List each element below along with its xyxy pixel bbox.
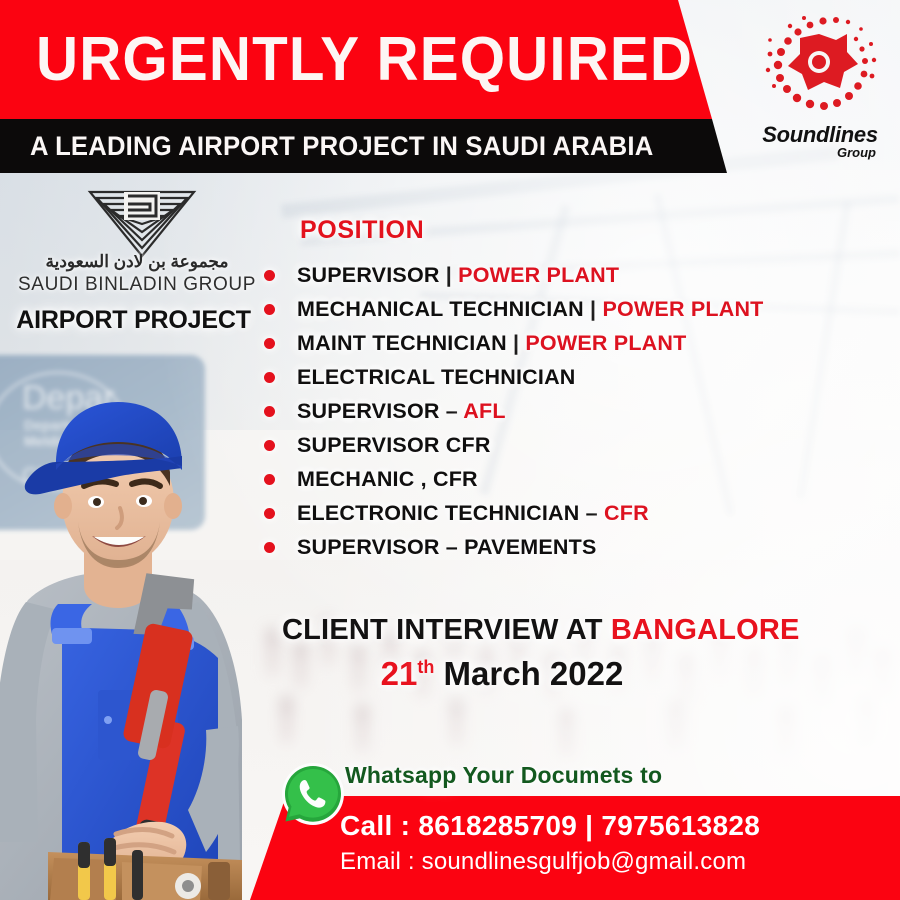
bullet-icon — [264, 372, 275, 383]
position-highlight: POWER PLANT — [525, 331, 686, 355]
contact-email-line: Email : soundlinesgulfjob@gmail.com — [340, 848, 900, 876]
binladin-diamond-icon — [72, 186, 212, 261]
interview-location-line: CLIENT INTERVIEW AT BANGALORE — [282, 614, 882, 647]
position-list-item: SUPERVISOR | POWER PLANT — [264, 258, 884, 292]
bullet-icon — [264, 440, 275, 451]
whatsapp-icon[interactable] — [281, 762, 345, 826]
position-label: SUPERVISOR | POWER PLANT — [297, 263, 619, 288]
bullet-icon — [264, 474, 275, 485]
interview-day-suffix: th — [417, 657, 434, 677]
bullet-icon — [264, 542, 275, 553]
bullet-icon — [264, 270, 275, 281]
position-title: ELECTRONIC TECHNICIAN – — [297, 501, 604, 525]
position-title: MAINT TECHNICIAN | — [297, 331, 525, 355]
position-list-item: ELECTRONIC TECHNICIAN – CFR — [264, 496, 884, 530]
soundlines-spiral-logo — [744, 14, 894, 120]
position-highlight: AFL — [463, 399, 505, 423]
client-name-arabic: مجموعة بن لادن السعودية — [12, 252, 262, 272]
interview-city: BANGALORE — [611, 614, 800, 646]
position-title: SUPERVISOR – — [297, 399, 463, 423]
email-label: Email : — [340, 848, 422, 875]
position-label: MECHANICAL TECHNICIAN | POWER PLANT — [297, 297, 764, 322]
position-title: MECHANICAL TECHNICIAN | — [297, 297, 602, 321]
position-label: SUPERVISOR – PAVEMENTS — [297, 535, 597, 560]
interview-day: 21 — [381, 655, 418, 692]
soundlines-logo: Soundlines Group — [744, 14, 894, 174]
position-title: SUPERVISOR CFR — [297, 433, 491, 457]
position-title: SUPERVISOR – PAVEMENTS — [297, 535, 597, 559]
position-highlight: POWER PLANT — [458, 263, 619, 287]
technician-photo — [0, 390, 302, 900]
position-title: ELECTRICAL TECHNICIAN — [297, 365, 576, 389]
page-subtitle: A LEADING AIRPORT PROJECT IN SAUDI ARABI… — [30, 128, 676, 164]
phone-number-2[interactable]: 7975613828 — [601, 810, 760, 841]
call-label: Call : — [340, 810, 418, 841]
position-list-item: MAINT TECHNICIAN | POWER PLANT — [264, 326, 884, 360]
position-list-item: SUPERVISOR – PAVEMENTS — [264, 530, 884, 564]
position-title: SUPERVISOR | — [297, 263, 458, 287]
position-label: ELECTRICAL TECHNICIAN — [297, 365, 576, 390]
whatsapp-instruction: Whatsapp Your Documets to — [345, 762, 662, 789]
bullet-icon — [264, 304, 275, 315]
saudi-binladin-logo — [72, 186, 212, 261]
contact-phone-line: Call : 8618285709 | 7975613828 — [340, 810, 900, 842]
email-address[interactable]: soundlinesgulfjob@gmail.com — [422, 848, 747, 875]
position-label: SUPERVISOR CFR — [297, 433, 491, 458]
position-title: MECHANIC , CFR — [297, 467, 478, 491]
position-list-item: MECHANIC , CFR — [264, 462, 884, 496]
position-label: MECHANIC , CFR — [297, 467, 478, 492]
position-list-item: ELECTRICAL TECHNICIAN — [264, 360, 884, 394]
recruitment-poster: Depar Departure Meldings Check in — [0, 0, 900, 900]
project-label: AIRPORT PROJECT — [6, 306, 261, 335]
bullet-icon — [264, 406, 275, 417]
phone-separator: | — [577, 810, 601, 841]
position-label: MAINT TECHNICIAN | POWER PLANT — [297, 331, 686, 356]
position-list-item: SUPERVISOR – AFL — [264, 394, 884, 428]
position-list-item: SUPERVISOR CFR — [264, 428, 884, 462]
interview-date: 21th March 2022 — [282, 655, 882, 693]
position-list-item: MECHANICAL TECHNICIAN | POWER PLANT — [264, 292, 884, 326]
whatsapp-icon-glyph — [281, 762, 345, 826]
positions-list: SUPERVISOR | POWER PLANTMECHANICAL TECHN… — [264, 258, 884, 564]
position-highlight: CFR — [604, 501, 649, 525]
phone-number-1[interactable]: 8618285709 — [418, 810, 577, 841]
client-name-english: SAUDI BINLADIN GROUP — [12, 274, 262, 296]
interview-prefix: CLIENT INTERVIEW AT — [282, 614, 611, 646]
technician-illustration — [0, 390, 302, 900]
soundlines-group-label: Group — [750, 145, 890, 160]
position-label: ELECTRONIC TECHNICIAN – CFR — [297, 501, 649, 526]
bullet-icon — [264, 338, 275, 349]
interview-month-year: March 2022 — [434, 655, 623, 692]
position-label: SUPERVISOR – AFL — [297, 399, 506, 424]
position-highlight: POWER PLANT — [602, 297, 763, 321]
bullet-icon — [264, 508, 275, 519]
positions-heading: POSITION — [300, 216, 424, 245]
page-title: URGENTLY REQUIRED — [36, 22, 619, 98]
